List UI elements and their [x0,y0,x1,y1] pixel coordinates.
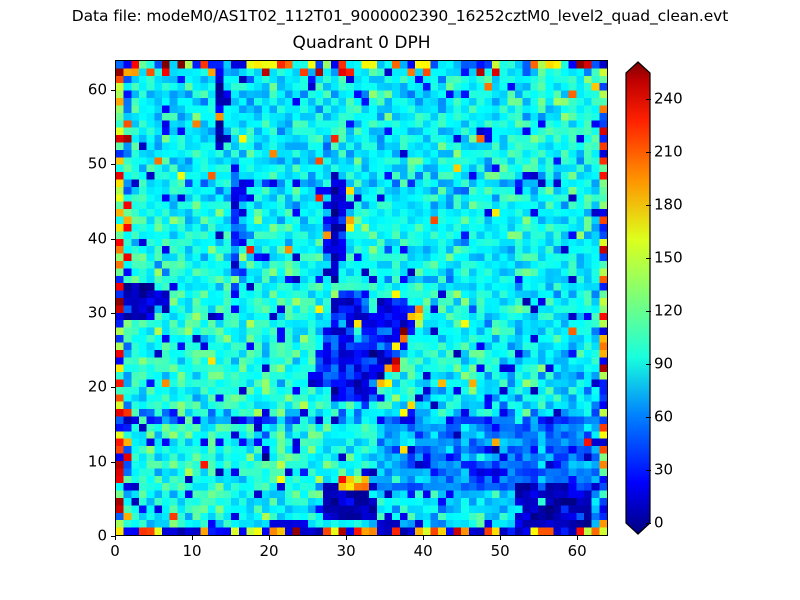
colorbar-gradient [625,60,651,536]
x-tick-mark [346,536,347,540]
y-tick-label: 30 [71,304,107,321]
x-tick-label: 20 [260,543,279,560]
y-tick-label: 40 [71,230,107,247]
x-tick-mark [500,536,501,540]
x-tick-mark [269,536,270,540]
y-tick-mark [111,313,115,314]
x-tick-label: 60 [568,543,587,560]
data-file-suptitle: Data file: modeM0/AS1T02_112T01_90000023… [0,7,800,26]
colorbar-tick-mark [646,205,651,206]
y-tick-mark [111,90,115,91]
colorbar[interactable] [625,60,651,536]
colorbar-tick-label: 240 [654,91,683,108]
x-tick-mark [423,536,424,540]
y-tick-label: 0 [71,528,107,545]
colorbar-tick-mark [646,417,651,418]
heatmap-axes[interactable] [115,60,608,536]
x-tick-label: 0 [110,543,120,560]
colorbar-tick-label: 180 [654,197,683,214]
colorbar-tick-mark [646,364,651,365]
colorbar-tick-label: 210 [654,144,683,161]
colorbar-tick-label: 150 [654,250,683,267]
y-tick-mark [111,239,115,240]
y-tick-label: 50 [71,156,107,173]
colorbar-tick-mark [646,99,651,100]
x-tick-label: 50 [491,543,510,560]
colorbar-tick-label: 90 [654,356,673,373]
colorbar-tick-mark [646,470,651,471]
x-tick-label: 30 [337,543,356,560]
detector-heatmap-image[interactable] [116,61,607,535]
y-tick-mark [111,536,115,537]
x-tick-mark [192,536,193,540]
y-tick-label: 60 [71,81,107,98]
colorbar-tick-label: 0 [654,515,664,532]
colorbar-tick-mark [646,258,651,259]
colorbar-tick-mark [646,152,651,153]
x-tick-label: 10 [182,543,201,560]
matplotlib-figure: Data file: modeM0/AS1T02_112T01_90000023… [0,0,800,600]
colorbar-tick-label: 120 [654,303,683,320]
colorbar-tick-label: 60 [654,409,673,426]
page-title: Quadrant 0 DPH [115,33,608,54]
y-tick-mark [111,164,115,165]
x-tick-mark [577,536,578,540]
x-tick-mark [115,536,116,540]
y-tick-label: 20 [71,379,107,396]
colorbar-tick-mark [646,311,651,312]
y-tick-mark [111,387,115,388]
x-tick-label: 40 [414,543,433,560]
colorbar-tick-label: 30 [654,462,673,479]
y-tick-label: 10 [71,453,107,470]
colorbar-tick-mark [646,523,651,524]
y-tick-mark [111,462,115,463]
